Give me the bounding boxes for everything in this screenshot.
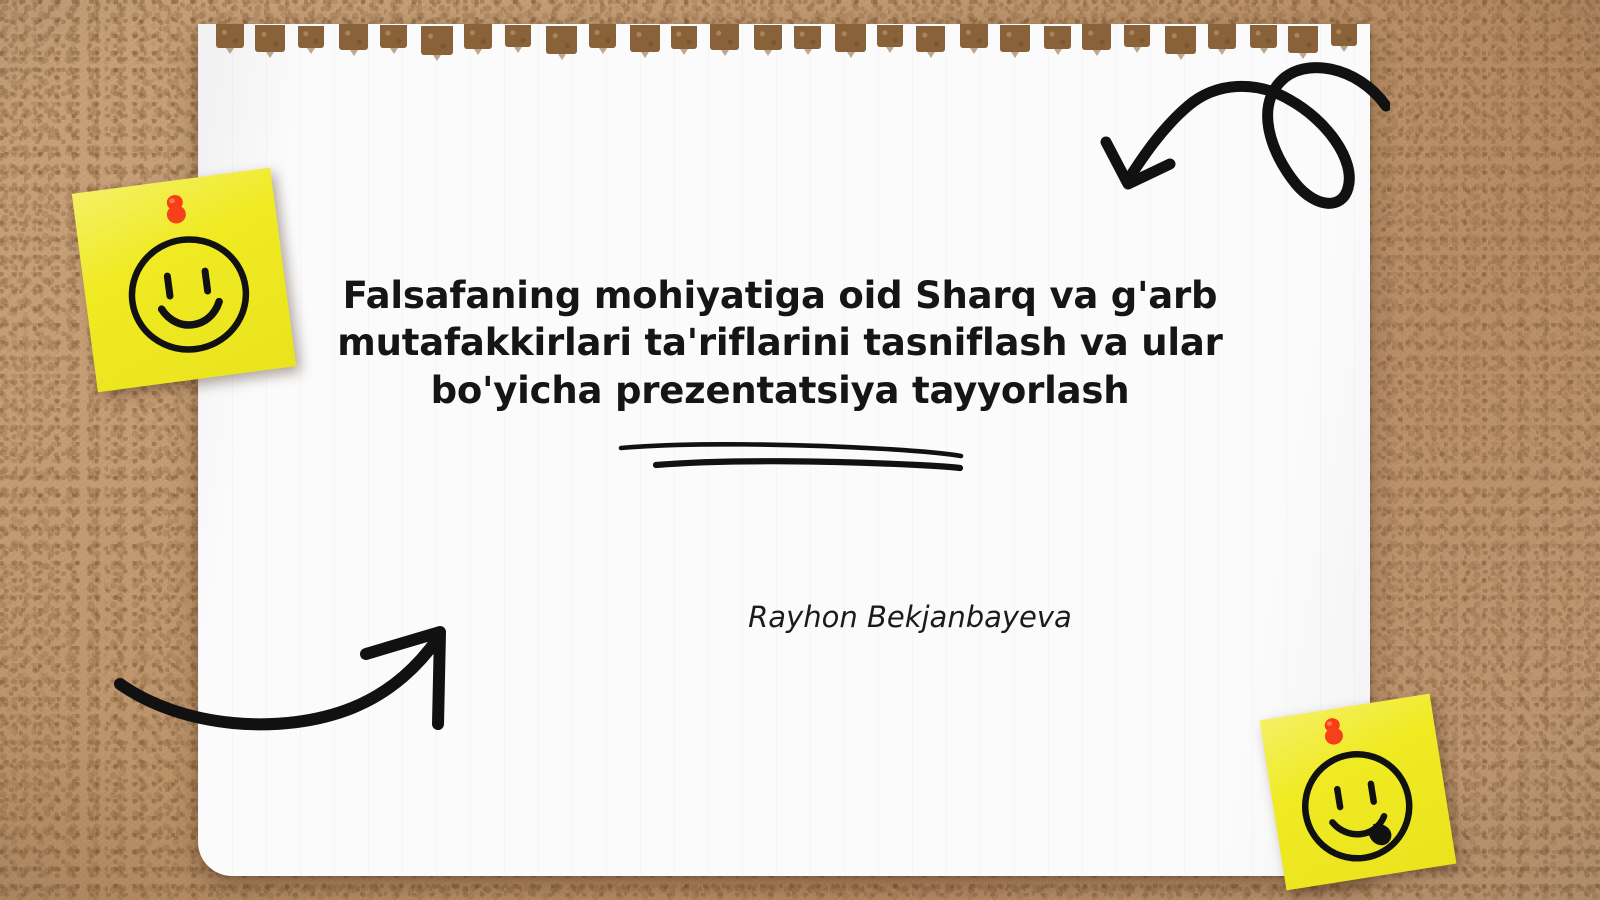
page-title: Falsafaning mohiyatiga oid Sharq va g'ar… [330, 272, 1230, 414]
spiral-hole [960, 24, 988, 48]
title-underline-icon [618, 432, 964, 474]
spiral-hole [794, 26, 821, 49]
spiral-hole [464, 24, 492, 49]
spiral-hole [1165, 26, 1196, 54]
spiral-hole [298, 26, 324, 48]
torn-spiral-holes [198, 24, 1370, 68]
spiral-hole [1288, 26, 1318, 53]
spiral-hole [505, 25, 531, 47]
spiral-hole [216, 24, 244, 48]
smiley-tongue-face-icon [1288, 739, 1427, 873]
pushpin-icon [1318, 715, 1349, 753]
slide-canvas: Falsafaning mohiyatiga oid Sharq va g'ar… [0, 0, 1600, 900]
pushpin-icon [161, 193, 191, 230]
title-line-3: bo'yicha prezentatsiya tayyorlash [431, 369, 1130, 412]
spiral-hole [546, 26, 577, 54]
spiral-hole [1082, 24, 1111, 50]
spiral-hole [1331, 24, 1357, 46]
sticky-note-bottom-right[interactable] [1260, 694, 1457, 891]
spiral-hole [255, 25, 285, 52]
spiral-hole [630, 25, 660, 52]
spiral-hole [754, 25, 782, 50]
title-line-2: mutafakkirlari ta'riflarini tasniflash v… [337, 321, 1222, 364]
spiral-hole [339, 24, 368, 50]
spiral-hole [1250, 25, 1277, 48]
title-block: Falsafaning mohiyatiga oid Sharq va g'ar… [330, 272, 1230, 414]
spiral-hole [421, 26, 453, 55]
spiral-hole [916, 26, 945, 52]
spiral-hole [1044, 26, 1071, 49]
spiral-hole [710, 24, 739, 50]
author-name: Rayhon Bekjanbayeva [470, 600, 1350, 634]
spiral-hole [1000, 25, 1030, 52]
spiral-hole [671, 26, 697, 49]
spiral-hole [1208, 24, 1236, 49]
smiley-face-icon [116, 224, 261, 366]
spiral-hole [835, 24, 866, 52]
title-line-1: Falsafaning mohiyatiga oid Sharq va g'ar… [343, 274, 1218, 317]
spiral-hole [589, 24, 616, 48]
spiral-hole [380, 25, 407, 48]
sticky-note-top-left[interactable] [72, 168, 296, 392]
spiral-hole [877, 25, 903, 47]
spiral-hole [1124, 25, 1150, 47]
